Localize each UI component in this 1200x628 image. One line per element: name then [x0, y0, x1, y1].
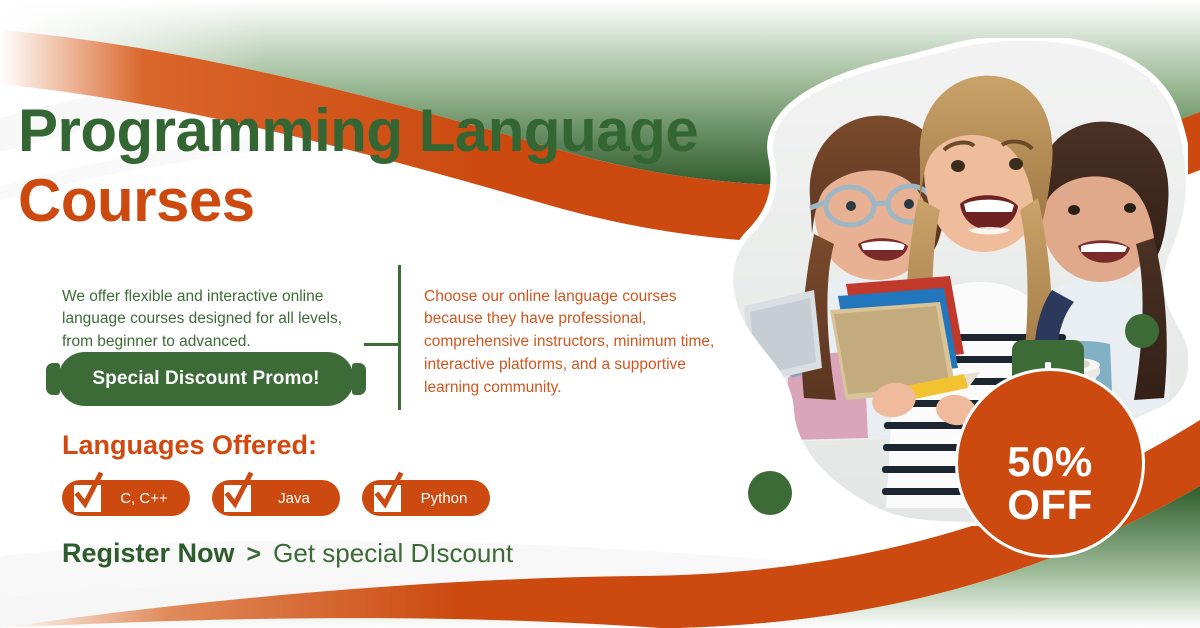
promo-banner: Programming Language Courses We offer fl… — [0, 0, 1200, 628]
intro-paragraph-left: We offer flexible and interactive online… — [62, 286, 374, 355]
ribbon-body: Special Discount Promo! — [58, 352, 354, 406]
checkmark-icon — [224, 485, 251, 512]
register-cta[interactable]: Register Now > Get special DIscount — [62, 538, 513, 569]
language-label: C, C++ — [120, 490, 168, 507]
discount-off-label: OFF — [1007, 484, 1092, 527]
decorative-dot — [748, 471, 792, 515]
headline-line-2: Courses — [18, 164, 778, 237]
special-discount-promo-badge[interactable]: Special Discount Promo! — [46, 352, 366, 406]
language-pill-python[interactable]: Python — [362, 480, 490, 516]
register-now-label: Register Now — [62, 538, 235, 569]
language-label: Java — [270, 490, 318, 507]
language-pill-c[interactable]: C, C++ — [62, 480, 190, 516]
chevron-right-icon: > — [247, 542, 262, 567]
intro-paragraph-right: Choose our online language courses becau… — [424, 286, 724, 401]
discount-circle: 50% OFF — [955, 368, 1145, 558]
discount-badge: 50% OFF — [955, 340, 1155, 540]
column-divider — [398, 265, 401, 410]
ribbon-tail-right — [352, 363, 366, 395]
checkmark-icon — [374, 485, 401, 512]
language-pill-java[interactable]: Java — [212, 480, 340, 516]
discount-percent: 50% — [1007, 441, 1093, 484]
promo-label: Special Discount Promo! — [92, 368, 319, 390]
checkmark-icon — [74, 485, 101, 512]
languages-offered-heading: Languages Offered: — [62, 430, 317, 461]
headline-line-1: Programming Language — [18, 99, 778, 164]
language-label: Python — [420, 490, 468, 507]
cta-subtext: Get special DIscount — [273, 538, 513, 569]
column-divider-connector — [364, 343, 400, 346]
page-title: Programming Language Courses — [18, 99, 778, 237]
languages-list: C, C++ Java Python — [62, 480, 490, 516]
